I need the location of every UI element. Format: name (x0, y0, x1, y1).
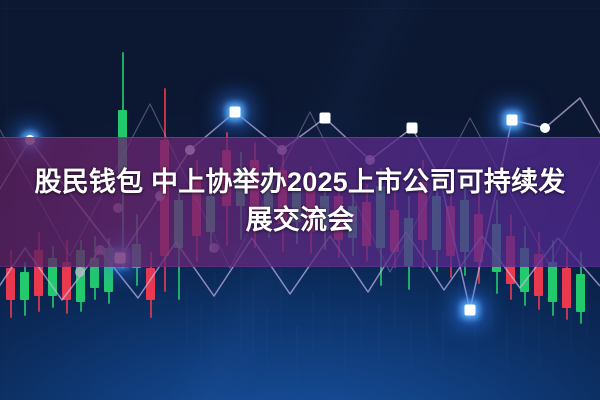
trend-node-marker (507, 115, 518, 126)
trend-node-marker (407, 123, 418, 134)
trend-node-marker (540, 123, 550, 133)
trend-node-marker (230, 107, 241, 118)
headline-overlay-band (0, 137, 600, 267)
trend-node-marker (320, 113, 331, 124)
trend-node-marker (75, 267, 85, 277)
trend-node-marker (465, 305, 476, 316)
banner-image: 股民钱包 中上协举办2025上市公司可持续发展交流会 (0, 0, 600, 400)
